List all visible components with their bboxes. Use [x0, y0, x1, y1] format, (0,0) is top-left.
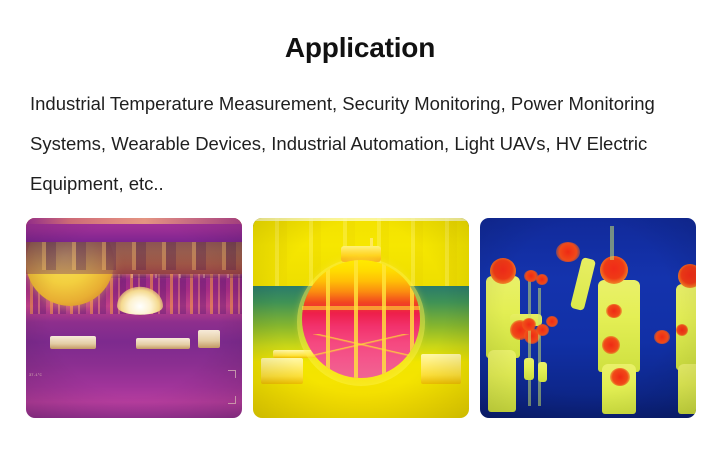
ground-clutter: [538, 362, 547, 382]
thermal-image-workers[interactable]: [480, 218, 696, 418]
worker-legs: [488, 350, 516, 412]
osd-corner-marker: [228, 396, 236, 404]
equipment-box: [198, 330, 220, 348]
hot-spot: [602, 336, 620, 354]
hot-spot: [546, 316, 558, 327]
horizon-line: [253, 218, 469, 221]
hot-spot: [654, 330, 670, 344]
description-line-1: Industrial Temperature Measurement, Secu…: [30, 84, 698, 124]
hot-spot: [536, 324, 549, 336]
hot-spot: [606, 304, 622, 318]
tank-support-bracing: [313, 334, 409, 356]
hot-spot: [676, 324, 688, 336]
worker-head: [678, 264, 696, 288]
hot-spot: [536, 274, 548, 285]
description-paragraph: Industrial Temperature Measurement, Secu…: [30, 84, 698, 204]
description-line-3: Equipment, etc..: [30, 164, 698, 204]
tank-equator-band: [302, 306, 420, 310]
ground-clutter: [524, 358, 534, 380]
temperature-osd-label: 37.1°C: [29, 374, 42, 379]
equipment-box: [50, 336, 96, 349]
hot-spot: [522, 318, 536, 331]
equipment-box: [261, 358, 303, 384]
equipment-box: [136, 338, 190, 349]
hot-spot: [610, 368, 630, 386]
thermal-image-industrial-piping[interactable]: 37.1°C: [26, 218, 242, 418]
equipment-box: [421, 354, 461, 384]
description-line-2: Systems, Wearable Devices, Industrial Au…: [30, 124, 698, 164]
page-title: Application: [0, 30, 720, 66]
osd-corner-marker: [228, 370, 236, 378]
vertical-pole: [538, 288, 541, 406]
worker-body: [598, 280, 640, 372]
thermal-image-spherical-storage-tank[interactable]: [253, 218, 469, 418]
vertical-pole: [528, 276, 531, 406]
vertical-pole: [610, 226, 614, 260]
thermal-image-gallery: 37.1°C: [26, 218, 696, 418]
floor-reflection: [26, 218, 242, 224]
worker-legs: [678, 364, 696, 414]
worker-head: [490, 258, 516, 284]
hot-spot: [556, 242, 580, 262]
tank-frame-lines: [302, 260, 420, 378]
worker-head: [600, 256, 628, 284]
